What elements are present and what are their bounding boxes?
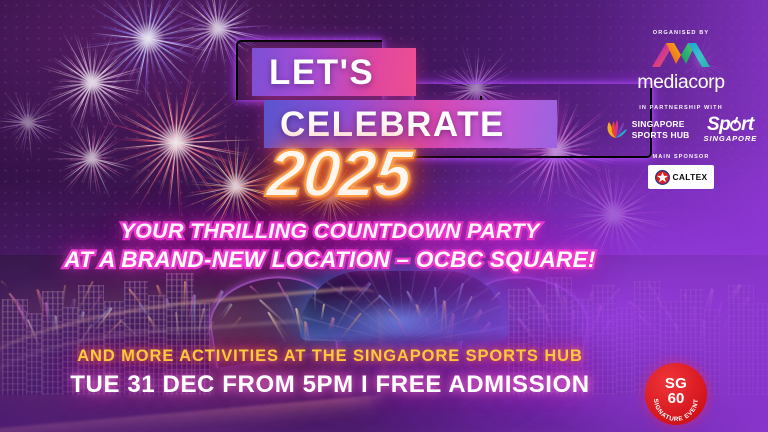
event-poster: LET'S CELEBRATE 2025 YOUR THRILLING COUN…	[0, 0, 768, 432]
sg60-badge-curved-text: SIGNATURE EVENT	[645, 363, 707, 425]
footer-activities-line: AND MORE ACTIVITIES AT THE SINGAPORE SPO…	[0, 347, 660, 366]
sport-o-ring-icon	[730, 120, 741, 131]
year-neon-2025: 2025	[265, 140, 415, 206]
sponsor-block-organiser: ORGANISED BY	[594, 30, 768, 94]
sport-text-a: Sp	[707, 114, 730, 135]
sponsor-column: ORGANISED BY	[594, 30, 768, 200]
sport-singapore-wordmark-sport: Sprt	[704, 116, 758, 134]
sponsor-block-partners: IN PARTNERSHIP WITH SINGAPORE	[594, 105, 768, 143]
sport-text-b: rt	[741, 114, 754, 135]
singapore-sports-hub-logo[interactable]: SINGAPORE SPORTS HUB	[605, 119, 690, 141]
footer-details-line: TUE 31 DEC FROM 5PM I FREE ADMISSION	[0, 371, 660, 399]
title-text-lets: LET'S	[269, 55, 374, 90]
caltex-logo[interactable]: CALTEX	[648, 165, 714, 189]
mediacorp-m-mark-icon	[650, 41, 712, 68]
title-band-lets: LET'S	[252, 48, 416, 96]
mediacorp-wordmark: mediacorp	[594, 71, 768, 94]
partnership-label: IN PARTNERSHIP WITH	[594, 105, 768, 111]
sponsor-block-main: MAIN SPONSOR CALTEX	[594, 154, 768, 189]
sport-singapore-wordmark-singapore: SINGAPORE	[704, 135, 758, 143]
mediacorp-logo[interactable]: mediacorp	[594, 41, 768, 94]
tagline-line-2: AT A BRAND-NEW LOCATION – OCBC SQUARE!	[0, 246, 660, 275]
caltex-star-icon	[655, 170, 670, 185]
event-tagline: YOUR THRILLING COUNTDOWN PARTY AT A BRAN…	[0, 218, 660, 274]
sports-hub-wordmark-line1: SINGAPORE	[632, 119, 690, 129]
organised-by-label: ORGANISED BY	[594, 30, 768, 36]
main-sponsor-label: MAIN SPONSOR	[594, 154, 768, 160]
sports-hub-fan-icon	[605, 119, 627, 141]
caltex-wordmark: CALTEX	[673, 172, 708, 182]
svg-text:SIGNATURE EVENT: SIGNATURE EVENT	[652, 398, 700, 423]
sports-hub-wordmark: SINGAPORE SPORTS HUB	[632, 119, 690, 140]
partner-logo-row: SINGAPORE SPORTS HUB Sprt SINGAPORE	[594, 116, 768, 143]
tagline-line-1: YOUR THRILLING COUNTDOWN PARTY	[0, 218, 660, 246]
sport-singapore-logo[interactable]: Sprt SINGAPORE	[704, 116, 758, 143]
sg60-badge: SG 60 SIGNATURE EVENT	[645, 363, 707, 425]
sports-hub-wordmark-line2: SPORTS HUB	[632, 130, 690, 140]
